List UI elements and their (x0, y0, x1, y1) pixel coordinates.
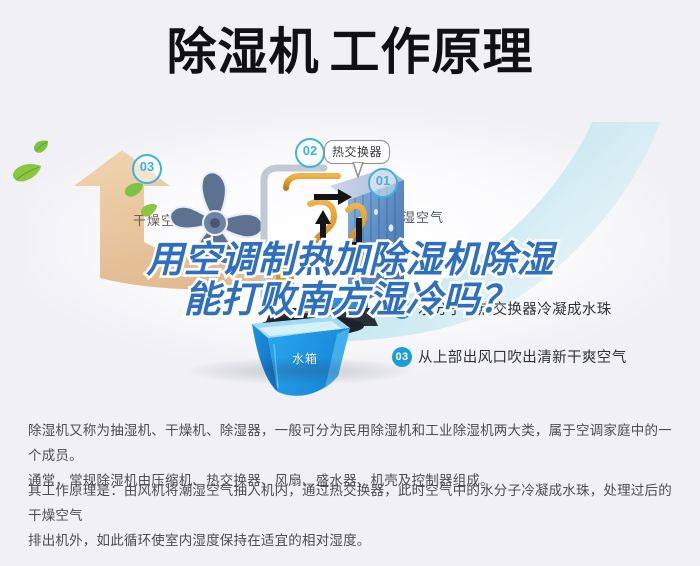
page-title: 除湿机工作原理 (0, 24, 700, 80)
callout-pointer-icon (352, 162, 364, 178)
headline-line-1: 用空调制热加除湿机除湿 (0, 240, 700, 280)
body-paragraph-1-line-1: 除湿机又称为抽湿机、干燥机、除湿器，一般可分为民用除湿机和工业除湿机两大类，属于… (28, 418, 676, 468)
leaf-icon (140, 203, 158, 218)
heat-exchanger-callout: 热交换器 (324, 140, 390, 164)
step-badge-03: 03 (392, 347, 412, 367)
page-root: 除湿机工作原理 (0, 0, 700, 566)
diagram-badge-03: 03 (132, 154, 162, 184)
leaf-icon (12, 163, 42, 183)
leaf-icon (33, 140, 49, 154)
headline-line-2: 能打败南方湿冷吗？ (0, 280, 700, 320)
leaf-icon (124, 182, 144, 198)
overlay-headline: 用空调制热加除湿机除湿 能打败南方湿冷吗？ (0, 240, 700, 320)
page-title-part-2: 工作原理 (330, 24, 534, 80)
step-text-03: 从上部出风口吹出清新干爽空气 (418, 346, 627, 367)
page-title-part-1: 除湿机 (167, 24, 320, 80)
body-paragraph-2-line-2: 排出机外，如此循环使室内湿度保持在适宜的相对湿度。 (28, 528, 676, 553)
diagram-badge-02: 02 (295, 138, 325, 168)
diagram-badge-01: 01 (368, 168, 398, 198)
body-paragraph-2-line-1: 其工作原理是：由风机将潮湿空气抽入机内，通过热交换器，此时空气中的水分子冷凝成水… (28, 478, 676, 528)
base-shadow (190, 358, 410, 384)
step-caption-03: 03 从上部出风口吹出清新干爽空气 (392, 346, 627, 367)
body-paragraph-2: 其工作原理是：由风机将潮湿空气抽入机内，通过热交换器，此时空气中的水分子冷凝成水… (28, 478, 676, 553)
